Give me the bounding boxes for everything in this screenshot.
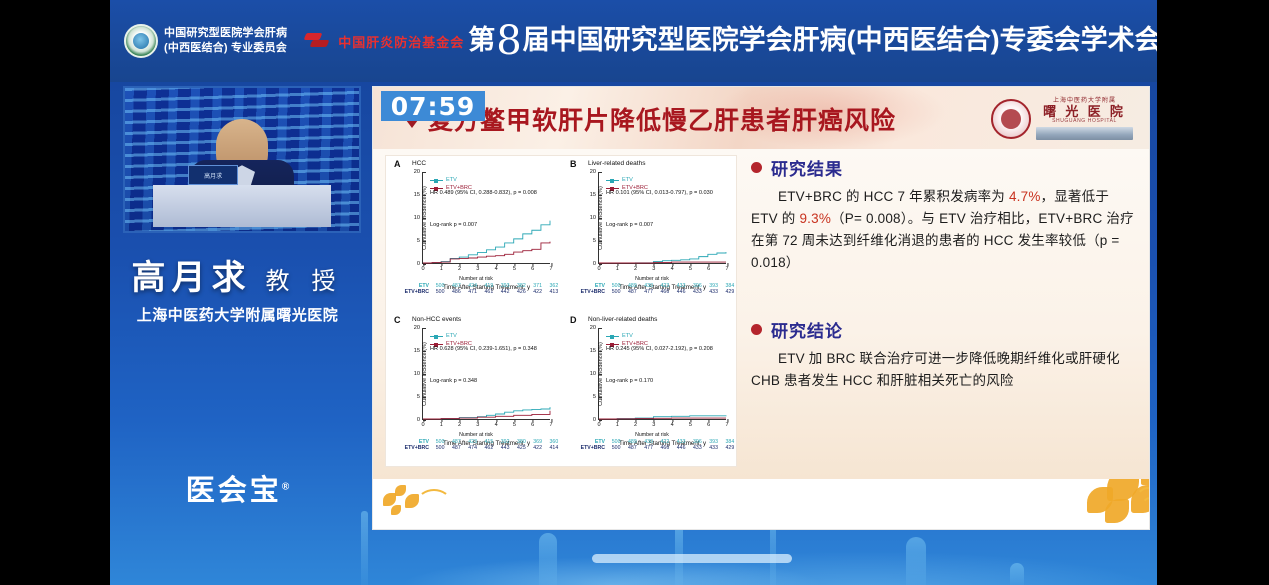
x-tick: 7 <box>725 263 728 272</box>
chart-panel-a: AHCCCumulative Incidence (%)051015200123… <box>386 156 562 312</box>
speaker-video-thumbnail[interactable]: 高月求 <box>123 86 361 233</box>
x-tick: 0 <box>421 263 424 272</box>
x-tick: 7 <box>549 263 552 272</box>
y-tick: 15 <box>414 192 423 198</box>
conclusion-heading-row: 研究结论 <box>751 317 1139 342</box>
foundation-mark-icon <box>303 30 333 52</box>
legend-swatch <box>606 344 619 345</box>
number-at-risk-table: Number at riskETV50048742341539238036936… <box>390 432 562 451</box>
x-tick: 6 <box>707 263 710 272</box>
series-etv-brc <box>423 411 550 419</box>
x-tick: 4 <box>495 263 498 272</box>
x-tick: 0 <box>421 419 424 428</box>
x-tick: 1 <box>616 263 619 272</box>
number-at-risk-cell: 477 <box>641 289 657 295</box>
hospital-name-block: 上海中医药大学附属 曙 光 医 院 SHUGUANG HOSPITAL <box>1036 98 1133 140</box>
legend-label: ETV <box>446 176 457 184</box>
number-at-risk-cell: 433 <box>689 445 705 451</box>
x-tick: 3 <box>652 419 655 428</box>
legend-swatch <box>430 344 443 345</box>
number-at-risk-cell: 433 <box>706 445 722 451</box>
x-tick: 4 <box>671 263 674 272</box>
organization-logo: 中国研究型医院学会肝病 (中西医结合) 专业委员会 <box>124 24 287 58</box>
number-at-risk-cell: 426 <box>513 289 529 295</box>
hazard-ratio-text: HR 0.101 (95% CI, 0.013-0.797), p = 0.03… <box>606 190 713 196</box>
log-rank-text: Log-rank p = 0.170 <box>606 378 653 384</box>
x-tick: 3 <box>476 419 479 428</box>
hazard-ratio-text: HR 0.628 (95% CI, 0.239-1.651), p = 0.34… <box>430 346 537 352</box>
x-tick: 1 <box>616 419 619 428</box>
bullet-icon <box>751 324 762 335</box>
panel-letter: B <box>570 159 577 169</box>
results-text-a: ETV+BRC 的 HCC 7 年累积发病率为 <box>778 189 1009 204</box>
number-at-risk-cell: 446 <box>673 289 689 295</box>
organization-line-2: (中西医结合) 专业委员会 <box>164 41 287 56</box>
log-rank-text: Log-rank p = 0.348 <box>430 378 477 384</box>
foundation-logo: 中国肝炎防治基金会 <box>303 30 464 52</box>
slide-body: AHCCCumulative Incidence (%)051015200123… <box>373 149 1149 479</box>
x-tick: 6 <box>707 419 710 428</box>
y-tick: 15 <box>590 348 599 354</box>
log-rank-text: Log-rank p = 0.007 <box>606 222 653 228</box>
x-tick: 0 <box>597 263 600 272</box>
presentation-slide[interactable]: 07:59 复方鳖甲软肝片降低慢乙肝患者肝癌风险 上海中医药大学附属 曙 光 医… <box>372 86 1150 530</box>
number-at-risk-row: ETV+BRC500487477466446433433429 <box>566 289 738 295</box>
speaker-panel: 高月求 高月求教 授 上海中医药大学附属曙光医院 医会宝® <box>110 82 365 585</box>
x-tick: 5 <box>689 263 692 272</box>
x-tick: 2 <box>458 263 461 272</box>
y-tick: 10 <box>414 371 423 377</box>
number-at-risk-cell: 466 <box>657 445 673 451</box>
number-at-risk-cell: 429 <box>722 289 738 295</box>
x-tick: 6 <box>531 263 534 272</box>
number-at-risk-cell: 500 <box>432 289 448 295</box>
x-tick: 1 <box>440 419 443 428</box>
conference-title: 第8届中国研究型医院学会肝病(中西医结合)专委会学术会议 <box>464 18 1157 64</box>
number-at-risk-row: ETV+BRC500486471461442426422413 <box>390 289 562 295</box>
number-at-risk-cell: 474 <box>465 445 481 451</box>
number-at-risk-cell: 462 <box>481 445 497 451</box>
y-tick: 20 <box>414 325 423 331</box>
number-at-risk-cell: 425 <box>513 445 529 451</box>
legend-label: ETV <box>446 332 457 340</box>
number-at-risk-cell: 433 <box>689 289 705 295</box>
number-at-risk-label: ETV+BRC <box>390 445 432 451</box>
y-tick: 20 <box>590 325 599 331</box>
conference-title-suffix: 届中国研究型医院学会肝病(中西医结合)专委会学术会议 <box>523 25 1157 55</box>
number-at-risk-cell: 422 <box>530 289 546 295</box>
x-tick: 0 <box>597 419 600 428</box>
chart-panel-b: BLiver-related deathsCumulative Incidenc… <box>562 156 738 312</box>
x-tick: 3 <box>476 263 479 272</box>
podium <box>153 185 331 227</box>
number-at-risk-cell: 414 <box>546 445 562 451</box>
legend-item: ETV <box>430 332 472 340</box>
hospital-building-image <box>1036 127 1133 140</box>
results-heading-row: 研究结果 <box>751 155 1139 180</box>
y-tick: 20 <box>590 169 599 175</box>
y-tick: 15 <box>414 348 423 354</box>
x-tick: 4 <box>671 419 674 428</box>
panel-title: Non-liver-related deaths <box>588 316 657 323</box>
hospital-line-3: SHUGUANG HOSPITAL <box>1036 119 1133 125</box>
slide-header: 07:59 复方鳖甲软肝片降低慢乙肝患者肝癌风险 上海中医药大学附属 曙 光 医… <box>373 87 1149 149</box>
panel-title: HCC <box>412 160 426 167</box>
log-rank-text: Log-rank p = 0.007 <box>430 222 477 228</box>
number-at-risk-cell: 486 <box>448 289 464 295</box>
x-tick: 2 <box>634 419 637 428</box>
legend-item: ETV <box>606 332 648 340</box>
broadcast-frame: 中国研究型医院学会肝病 (中西医结合) 专业委员会 中国肝炎防治基金会 第8届中… <box>110 0 1157 585</box>
conclusion-heading: 研究结论 <box>771 317 843 342</box>
podium-nameplate: 高月求 <box>188 165 238 185</box>
legend-swatch <box>430 188 443 189</box>
x-tick: 4 <box>495 419 498 428</box>
number-at-risk-cell: 433 <box>706 289 722 295</box>
x-tick: 3 <box>652 263 655 272</box>
number-at-risk-label: ETV+BRC <box>566 445 608 451</box>
organization-name: 中国研究型医院学会肝病 (中西医结合) 专业委员会 <box>164 26 287 56</box>
number-at-risk-table: Number at riskETV50048943042343339639338… <box>566 276 738 295</box>
panel-letter: A <box>394 159 401 169</box>
number-at-risk-title: Number at risk <box>566 432 738 438</box>
figure-panel: AHCCCumulative Incidence (%)051015200123… <box>385 155 737 467</box>
screen: 中国研究型医院学会肝病 (中西医结合) 专业委员会 中国肝炎防治基金会 第8届中… <box>0 0 1269 585</box>
x-tick: 2 <box>634 263 637 272</box>
results-text: ETV+BRC 的 HCC 7 年累积发病率为 4.7%，显著低于 ETV 的 … <box>751 186 1139 273</box>
number-at-risk-cell: 500 <box>608 445 624 451</box>
registered-mark-icon: ® <box>282 481 289 492</box>
y-tick: 10 <box>590 371 599 377</box>
legend-swatch <box>606 336 619 337</box>
legend-swatch <box>430 180 443 181</box>
slide-title: 复方鳖甲软肝片降低慢乙肝患者肝癌风险 <box>428 101 896 137</box>
countdown-timer: 07:59 <box>381 91 485 121</box>
number-at-risk-cell: 446 <box>673 445 689 451</box>
conference-banner: 中国研究型医院学会肝病 (中西医结合) 专业委员会 中国肝炎防治基金会 第8届中… <box>110 0 1157 82</box>
legend-swatch <box>606 180 619 181</box>
number-at-risk-cell: 487 <box>624 289 640 295</box>
number-at-risk-row: ETV+BRC500487474462443425422414 <box>390 445 562 451</box>
slide-text-column: 研究结果 ETV+BRC 的 HCC 7 年累积发病率为 4.7%，显著低于 E… <box>751 155 1139 402</box>
chart-panel-d: DNon-liver-related deathsCumulative Inci… <box>562 312 738 468</box>
number-at-risk-cell: 466 <box>657 289 673 295</box>
legend-item: ETV <box>430 176 472 184</box>
legend-label: ETV <box>622 176 633 184</box>
speaker-name: 高月求教 授 <box>110 250 365 299</box>
x-tick: 5 <box>513 263 516 272</box>
x-tick: 2 <box>458 419 461 428</box>
number-at-risk-title: Number at risk <box>566 276 738 282</box>
legend-swatch <box>430 336 443 337</box>
number-at-risk-table: Number at riskETV50048742441939338237136… <box>390 276 562 295</box>
results-highlight-b: 9.3% <box>799 211 831 226</box>
number-at-risk-label: ETV+BRC <box>390 289 432 295</box>
platform-watermark-text: 医会宝 <box>186 475 282 507</box>
y-tick: 15 <box>590 192 599 198</box>
x-tick: 5 <box>689 419 692 428</box>
conference-edition-number: 8 <box>495 18 522 64</box>
number-at-risk-cell: 443 <box>497 445 513 451</box>
hazard-ratio-text: HR 0.489 (95% CI, 0.288-0.832), p = 0.00… <box>430 190 537 196</box>
number-at-risk-cell: 500 <box>608 289 624 295</box>
number-at-risk-row: ETV+BRC500487477466446433433429 <box>566 445 738 451</box>
number-at-risk-cell: 477 <box>641 445 657 451</box>
y-tick: 20 <box>414 169 423 175</box>
number-at-risk-title: Number at risk <box>390 432 562 438</box>
society-seal-icon <box>124 24 158 58</box>
x-tick: 7 <box>549 419 552 428</box>
bullet-icon <box>751 162 762 173</box>
conference-title-prefix: 第 <box>468 25 495 55</box>
panel-title: Non-HCC events <box>412 316 461 323</box>
hospital-line-2: 曙 光 医 院 <box>1036 105 1133 120</box>
x-tick: 6 <box>531 419 534 428</box>
number-at-risk-cell: 487 <box>448 445 464 451</box>
number-at-risk-table: Number at riskETV50048943042243339639338… <box>566 432 738 451</box>
x-tick: 5 <box>513 419 516 428</box>
panel-letter: D <box>570 315 577 325</box>
panel-title: Liver-related deaths <box>588 160 645 167</box>
number-at-risk-cell: 422 <box>530 445 546 451</box>
results-section: 研究结果 ETV+BRC 的 HCC 7 年累积发病率为 4.7%，显著低于 E… <box>751 155 1139 273</box>
hospital-seal-icon <box>991 99 1031 139</box>
panel-letter: C <box>394 315 401 325</box>
hazard-ratio-text: HR 0.245 (95% CI, 0.027-2.192), p = 0.20… <box>606 346 713 352</box>
number-at-risk-cell: 500 <box>432 445 448 451</box>
conclusion-text: ETV 加 BRC 联合治疗可进一步降低晚期纤维化或肝硬化 CHB 患者发生 H… <box>751 348 1139 392</box>
number-at-risk-cell: 442 <box>497 289 513 295</box>
chart-panel-c: CNon-HCC eventsCumulative Incidence (%)0… <box>386 312 562 468</box>
conclusion-section: 研究结论 ETV 加 BRC 联合治疗可进一步降低晚期纤维化或肝硬化 CHB 患… <box>751 317 1139 392</box>
number-at-risk-label: ETV+BRC <box>566 289 608 295</box>
number-at-risk-cell: 471 <box>465 289 481 295</box>
number-at-risk-cell: 413 <box>546 289 562 295</box>
legend-swatch <box>606 188 619 189</box>
series-etv <box>599 252 726 263</box>
y-tick: 10 <box>414 215 423 221</box>
x-tick: 1 <box>440 263 443 272</box>
speaker-name-text: 高月求 <box>132 260 252 297</box>
speaker-affiliation: 上海中医药大学附属曙光医院 <box>110 304 365 325</box>
results-heading: 研究结果 <box>771 155 843 180</box>
x-tick: 7 <box>725 419 728 428</box>
legend-label: ETV <box>622 332 633 340</box>
kaplan-meier-figure: AHCCCumulative Incidence (%)051015200123… <box>386 156 738 468</box>
speaker-honorific: 教 授 <box>252 269 344 295</box>
series-etv-brc <box>599 262 726 263</box>
legend-item: ETV <box>606 176 648 184</box>
platform-watermark: 医会宝® <box>110 467 365 509</box>
number-at-risk-cell: 429 <box>722 445 738 451</box>
organization-line-1: 中国研究型医院学会肝病 <box>164 26 287 41</box>
number-at-risk-cell: 461 <box>481 289 497 295</box>
number-at-risk-title: Number at risk <box>390 276 562 282</box>
hospital-logo: 上海中医药大学附属 曙 光 医 院 SHUGUANG HOSPITAL <box>991 93 1133 145</box>
number-at-risk-cell: 487 <box>624 445 640 451</box>
y-tick: 10 <box>590 215 599 221</box>
slide-footer-decoration <box>373 479 1149 530</box>
foundation-name: 中国肝炎防治基金会 <box>338 32 464 51</box>
results-highlight-a: 4.7% <box>1009 189 1041 204</box>
